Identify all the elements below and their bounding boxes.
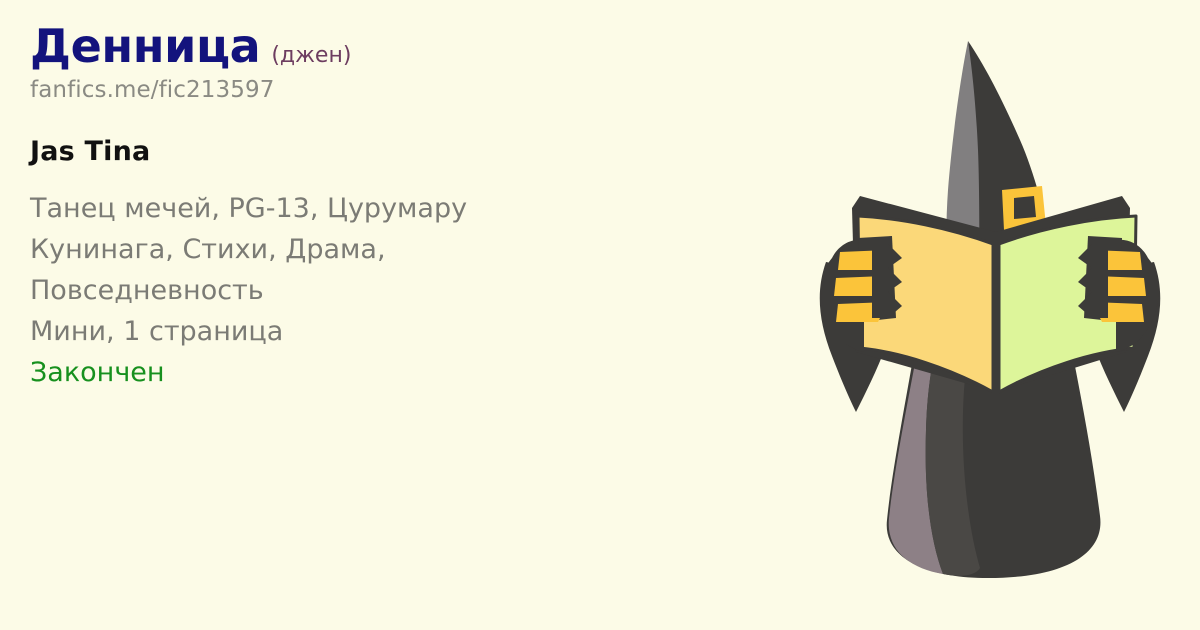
- fanfic-preview-card: Денница (джен) fanfics.me/fic213597 Jas …: [0, 0, 1200, 630]
- genre-label: (джен): [271, 45, 351, 67]
- metadata-block: Танец мечей, PG-13, Цурумару Кунинага, С…: [30, 188, 750, 393]
- left-claw-tips: [872, 244, 902, 318]
- metadata-line: Мини, 1 страница: [30, 311, 750, 352]
- author-name[interactable]: Jas Tina: [30, 136, 750, 167]
- title-row: Денница (джен): [30, 22, 750, 71]
- info-column: Денница (джен) fanfics.me/fic213597 Jas …: [30, 22, 750, 393]
- metadata-line: Кунинага, Стихи, Драма,: [30, 229, 750, 270]
- right-claw-tips: [1078, 244, 1108, 318]
- status-badge: Закончен: [30, 352, 750, 393]
- witch-reading-book-illustration: [780, 0, 1200, 630]
- metadata-line: Танец мечей, PG-13, Цурумару: [30, 188, 750, 229]
- source-url[interactable]: fanfics.me/fic213597: [30, 77, 750, 103]
- metadata-line: Повседневность: [30, 270, 750, 311]
- page-title: Денница: [30, 22, 260, 71]
- book-spine: [992, 238, 999, 394]
- witch-illustration-svg: [780, 0, 1200, 630]
